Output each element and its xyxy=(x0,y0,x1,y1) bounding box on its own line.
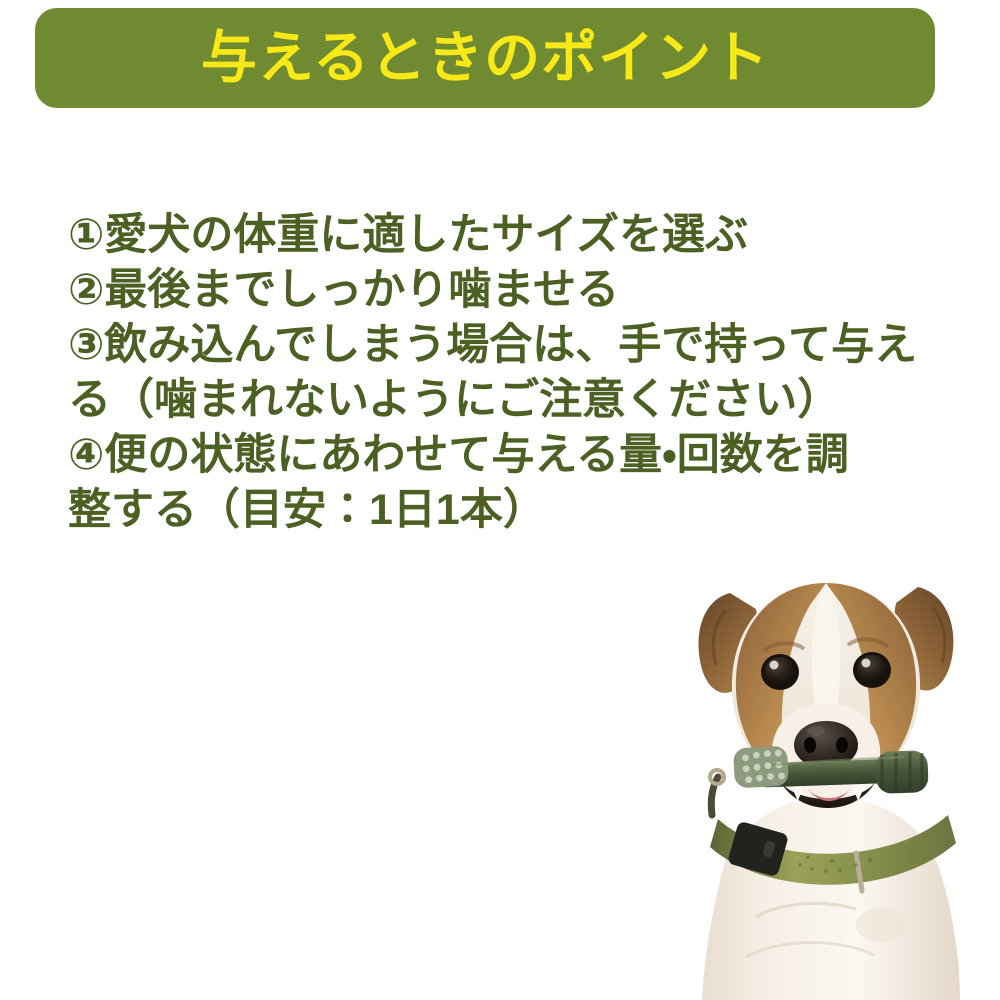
point-line: ④便の状態にあわせて与える量・回数を調 xyxy=(68,428,928,483)
product-info-panel: 与えるときのポイント ①愛犬の体重に適したサイズを選ぶ ②最後までしっかり噛ませ… xyxy=(0,0,1000,1000)
points-list: ①愛犬の体重に適したサイズを選ぶ ②最後までしっかり噛ませる ③飲み込んでしまう… xyxy=(68,208,928,538)
page-title: 与えるときのポイント xyxy=(201,30,769,86)
point-line: ③飲み込んでしまう場合は、手で持って与え xyxy=(68,318,928,373)
point-line: ①愛犬の体重に適したサイズを選ぶ xyxy=(68,208,928,263)
dog-illustration xyxy=(660,565,1000,1000)
dog-photo xyxy=(660,565,1000,1000)
point-line: ②最後までしっかり噛ませる xyxy=(68,263,928,318)
point-line: 整する（目安：1日1本） xyxy=(68,483,928,538)
header-banner: 与えるときのポイント xyxy=(35,8,935,108)
point-line: る（噛まれないようにご注意ください） xyxy=(68,373,928,428)
